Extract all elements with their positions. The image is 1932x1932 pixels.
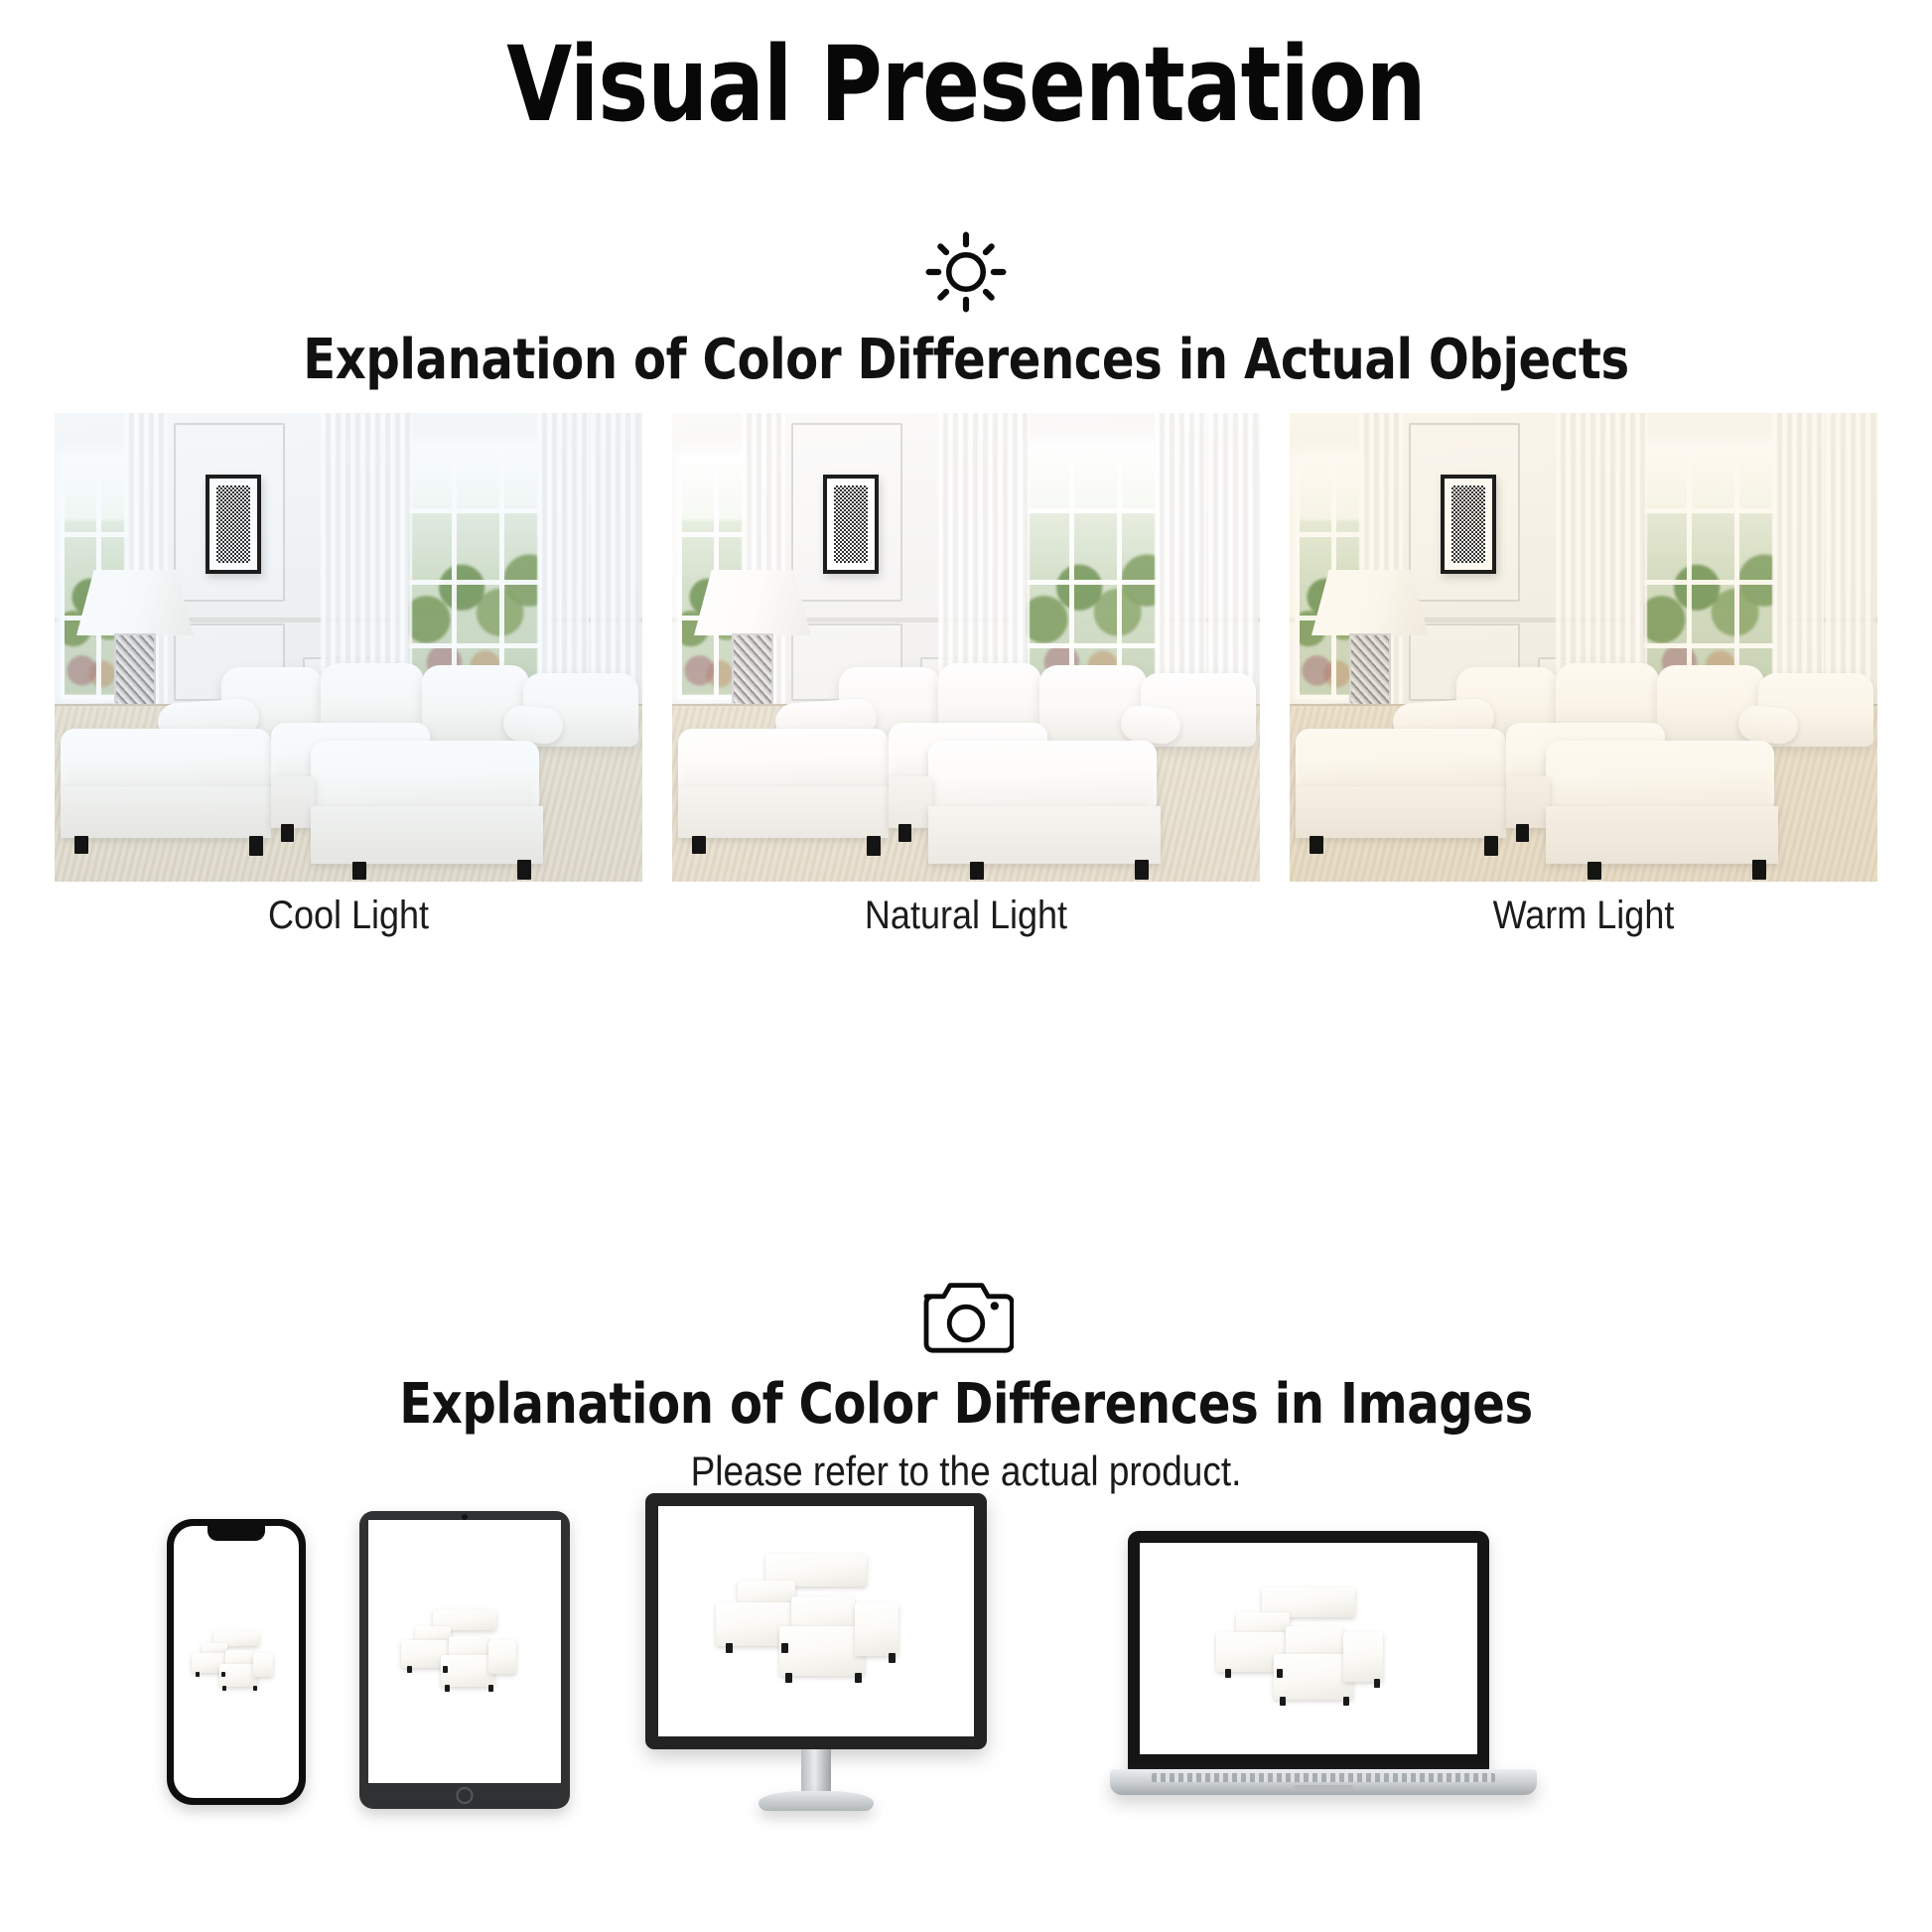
smartphone-notch: [207, 1526, 265, 1541]
photo-caption-cool: Cool Light: [84, 894, 614, 938]
camera-icon: [918, 1276, 1014, 1355]
device-tablet: [359, 1511, 570, 1809]
lighting-comparison-row: [55, 413, 1877, 882]
sun-icon-container: [0, 226, 1932, 318]
product-disclaimer-note: Please refer to the actual product.: [116, 1448, 1816, 1495]
smartphone-screen: [174, 1526, 299, 1798]
device-smartphone: [167, 1519, 306, 1805]
device-mockup-row: [0, 1519, 1932, 1932]
product-render-sofa: [1216, 1587, 1401, 1711]
photo-caption-natural: Natural Light: [702, 894, 1231, 938]
product-render-sofa: [716, 1554, 916, 1689]
laptop-trackpad[interactable]: [1294, 1785, 1353, 1790]
tablet-screen: [368, 1520, 561, 1783]
lighting-tint-cool: [55, 413, 642, 882]
monitor-base: [759, 1791, 874, 1811]
device-laptop: [1110, 1531, 1537, 1829]
page-title: Visual Presentation: [174, 28, 1758, 141]
lighting-photo-natural: [672, 413, 1260, 882]
laptop-lid: [1128, 1531, 1489, 1771]
lighting-tint-warm: [1290, 413, 1877, 882]
lighting-photo-warm: [1290, 413, 1877, 882]
lighting-tint-natural: [672, 413, 1260, 882]
section-heading-images: Explanation of Color Differences in Imag…: [135, 1372, 1797, 1437]
infographic-page: Visual Presentation Explanation of Color…: [0, 0, 1932, 1932]
monitor-screen: [658, 1506, 974, 1736]
tablet-home-button[interactable]: [457, 1787, 474, 1804]
camera-icon-container: [0, 1276, 1932, 1355]
laptop-screen: [1140, 1543, 1477, 1754]
monitor-neck: [801, 1749, 831, 1795]
photo-caption-warm: Warm Light: [1319, 894, 1849, 938]
product-render-sofa: [401, 1609, 528, 1695]
product-render-sofa: [192, 1631, 281, 1693]
device-monitor: [645, 1493, 987, 1821]
section-heading-actual-objects: Explanation of Color Differences in Actu…: [135, 328, 1797, 392]
sun-icon: [920, 226, 1012, 318]
monitor-bezel: [645, 1493, 987, 1749]
lighting-photo-cool: [55, 413, 642, 882]
laptop-keyboard[interactable]: [1152, 1773, 1495, 1782]
